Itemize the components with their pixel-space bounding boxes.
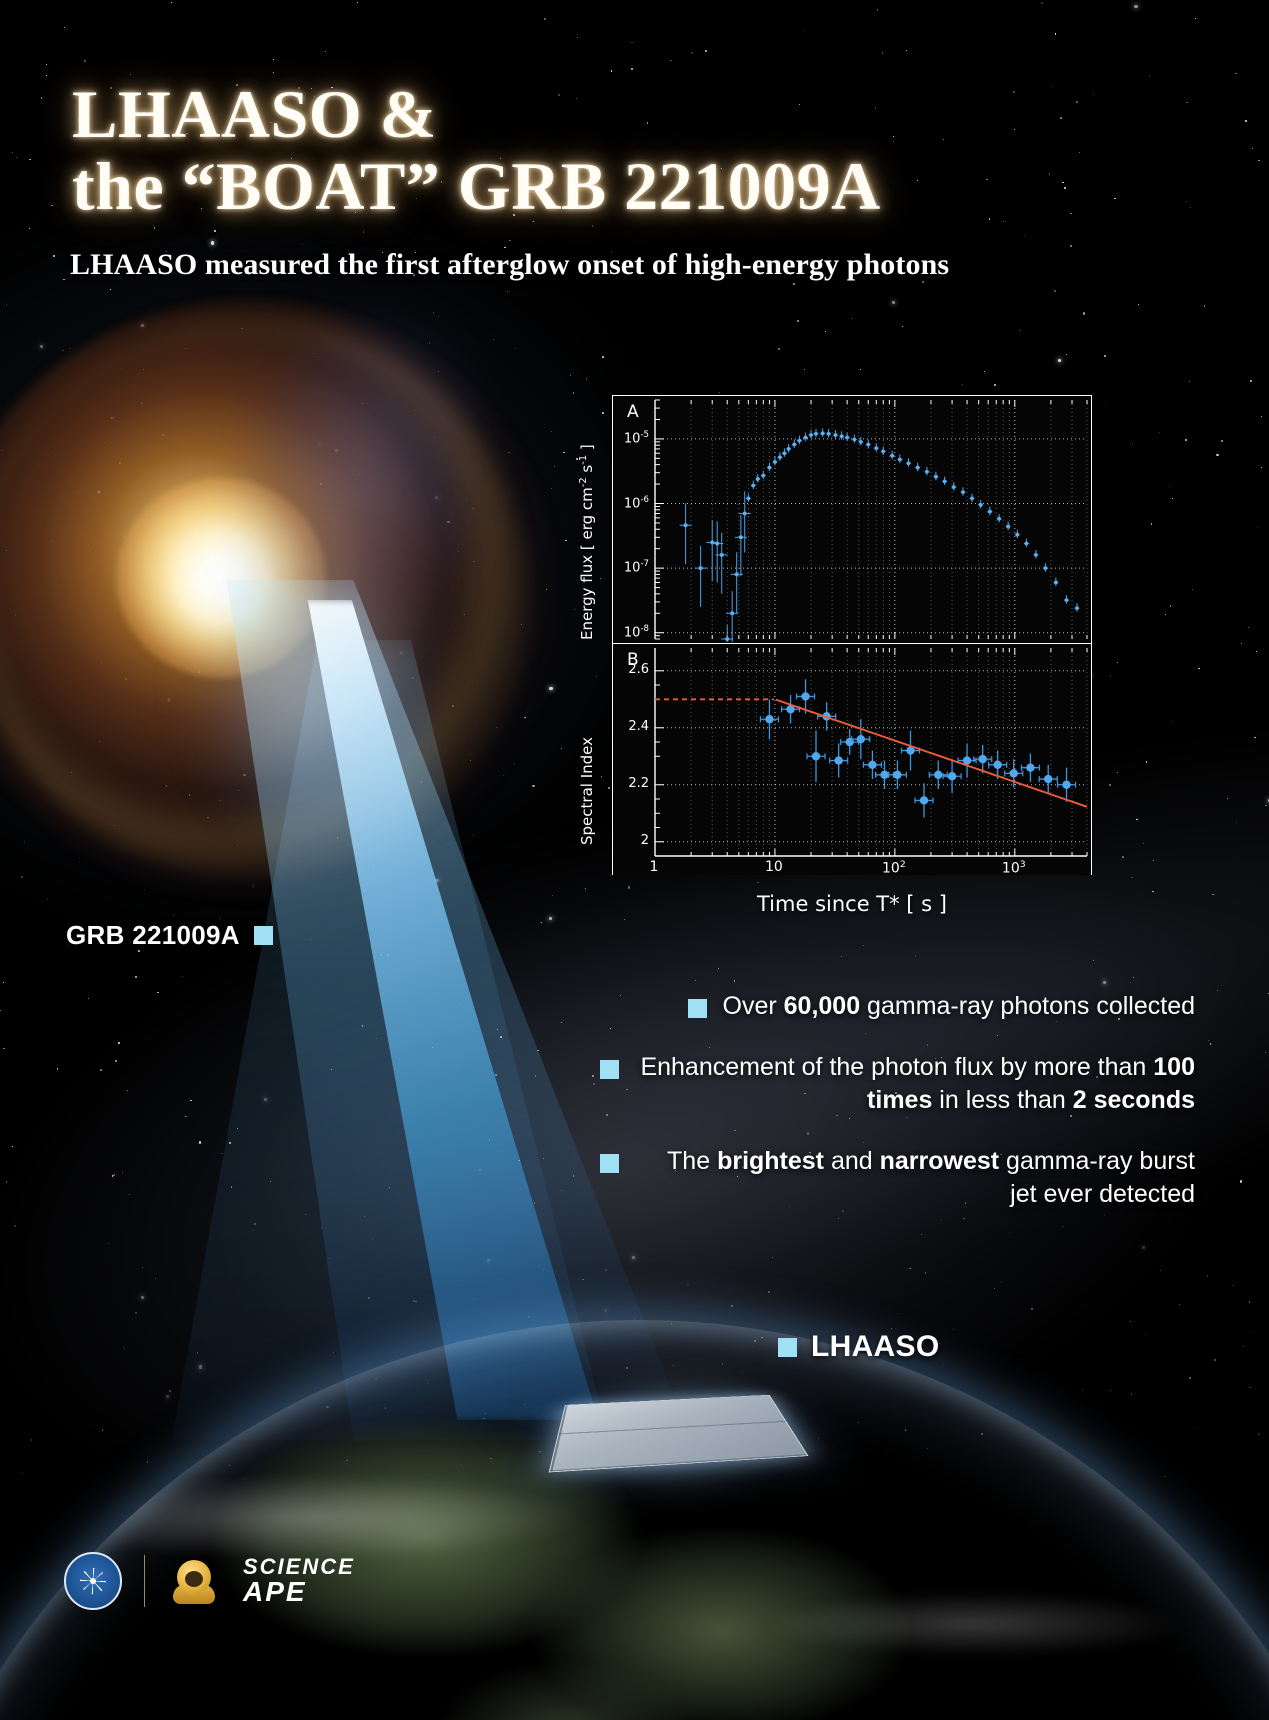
panel-b-x-tick: 102 <box>882 859 906 877</box>
finding-item: The brightest and narrowest gamma-ray bu… <box>575 1145 1195 1211</box>
x-axis-label: Time since T* [ s ] <box>612 892 1092 916</box>
panel-b-y-axis-label: Spectral Index <box>578 737 596 845</box>
science-ape-wordmark: SCIENCE APE <box>243 1556 355 1606</box>
panel-b-x-tick: 10 <box>765 859 783 875</box>
panel-a-y-tick: 10-6 <box>624 495 649 511</box>
logo-divider <box>144 1555 145 1607</box>
panel-a-y-tick: 10-7 <box>624 559 649 575</box>
panel-a-tag: A <box>627 402 639 422</box>
panel-b-x-tick: 1 <box>650 859 659 875</box>
callout-lhaaso-text: LHAASO <box>811 1330 939 1364</box>
finding-text: The brightest and narrowest gamma-ray bu… <box>635 1145 1195 1211</box>
callout-lhaaso: LHAASO <box>778 1330 939 1364</box>
chart-panel-b: B <box>613 644 1091 875</box>
title-line-2: the “BOAT” GRB 221009A <box>72 150 1112 222</box>
panel-b-y-tick: 2 <box>641 833 649 848</box>
panel-a-y-tick: 10-5 <box>624 430 649 446</box>
bullet-square-icon <box>600 1154 619 1173</box>
science-ape-icon <box>167 1554 221 1608</box>
ape-line-2: APE <box>243 1578 355 1606</box>
panel-b-y-tick: 2.6 <box>628 662 649 677</box>
panel-a-plot-area <box>613 396 1091 643</box>
figure-container: A B <box>612 395 1092 875</box>
callout-grb-text: GRB 221009A <box>66 920 240 951</box>
bullet-square-icon <box>778 1338 797 1357</box>
page-title: LHAASO & the “BOAT” GRB 221009A <box>72 78 1112 222</box>
page-subtitle: LHAASO measured the first afterglow onse… <box>70 248 1150 282</box>
key-findings-list: Over 60,000 gamma-ray photons collectedE… <box>575 990 1195 1239</box>
panel-a-y-axis-label: Energy flux [ erg cm-2 s-1 ] <box>578 444 596 640</box>
bullet-square-icon <box>600 1060 619 1079</box>
title-line-1: LHAASO & <box>72 76 437 152</box>
ape-line-1: SCIENCE <box>243 1556 355 1578</box>
finding-item: Enhancement of the photon flux by more t… <box>575 1051 1195 1117</box>
panel-b-x-tick: 103 <box>1002 859 1026 877</box>
panel-b-y-tick: 2.2 <box>628 776 649 791</box>
bullet-square-icon <box>688 999 707 1018</box>
finding-text: Over 60,000 gamma-ray photons collected <box>723 990 1195 1023</box>
finding-text: Enhancement of the photon flux by more t… <box>635 1051 1195 1117</box>
poster-canvas: LHAASO & the “BOAT” GRB 221009A LHAASO m… <box>0 0 1269 1720</box>
bullet-square-icon <box>254 926 273 945</box>
panel-b-y-tick: 2.4 <box>628 719 649 734</box>
panel-a-y-tick: 10-8 <box>624 624 649 640</box>
callout-grb-221009a: GRB 221009A <box>66 920 273 951</box>
chart-panel-a: A <box>613 396 1091 644</box>
ihep-cas-seal-icon <box>64 1552 122 1610</box>
logo-bar: SCIENCE APE <box>64 1552 355 1610</box>
ape-face-shape <box>185 1571 203 1587</box>
finding-item: Over 60,000 gamma-ray photons collected <box>575 990 1195 1023</box>
panel-b-plot-area <box>613 644 1091 875</box>
